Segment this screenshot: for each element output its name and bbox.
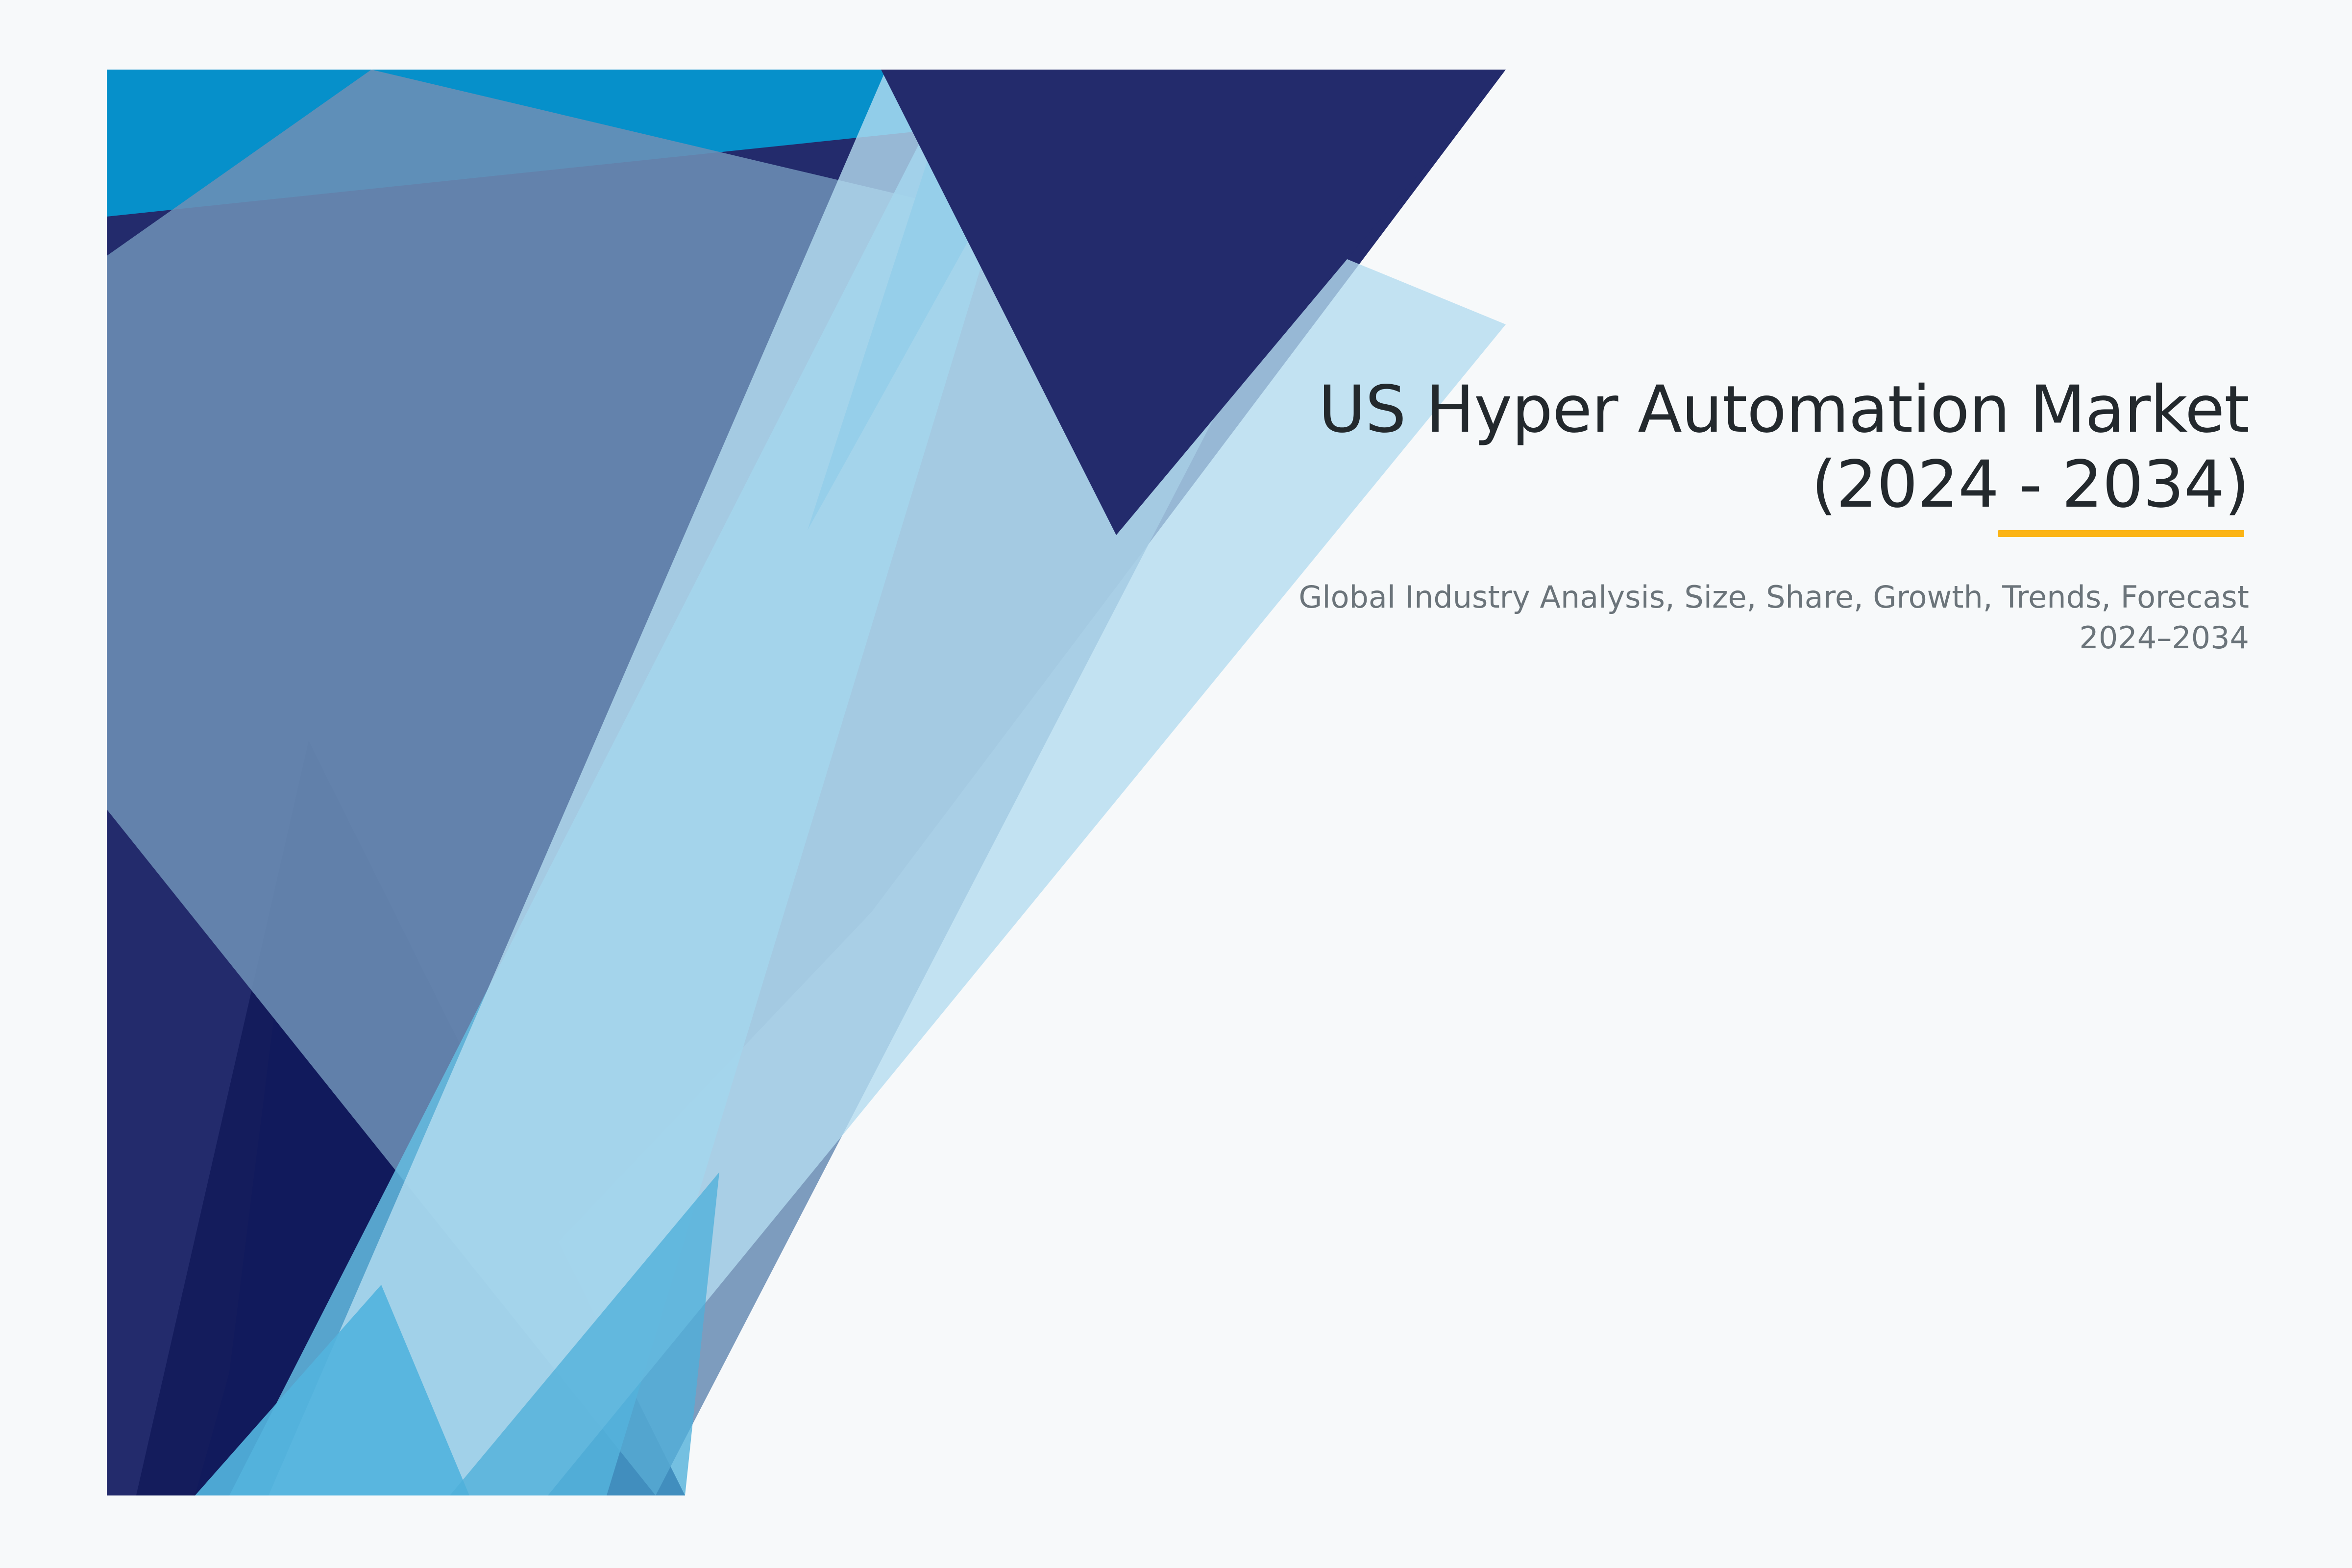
text-column: US Hyper Automation Market (2024 - 2034)… (1225, 372, 2249, 658)
page-title: US Hyper Automation Market (2024 - 2034) (1225, 372, 2249, 522)
title-block: US Hyper Automation Market (2024 - 2034) (1225, 372, 2249, 522)
page-subtitle: Global Industry Analysis, Size, Share, G… (1225, 522, 2249, 658)
cover-artwork (107, 70, 1507, 1495)
title-accent-underline (1998, 530, 2244, 537)
title-slide: US Hyper Automation Market (2024 - 2034)… (0, 0, 2352, 1568)
abstract-geometry-svg (107, 70, 1507, 1495)
